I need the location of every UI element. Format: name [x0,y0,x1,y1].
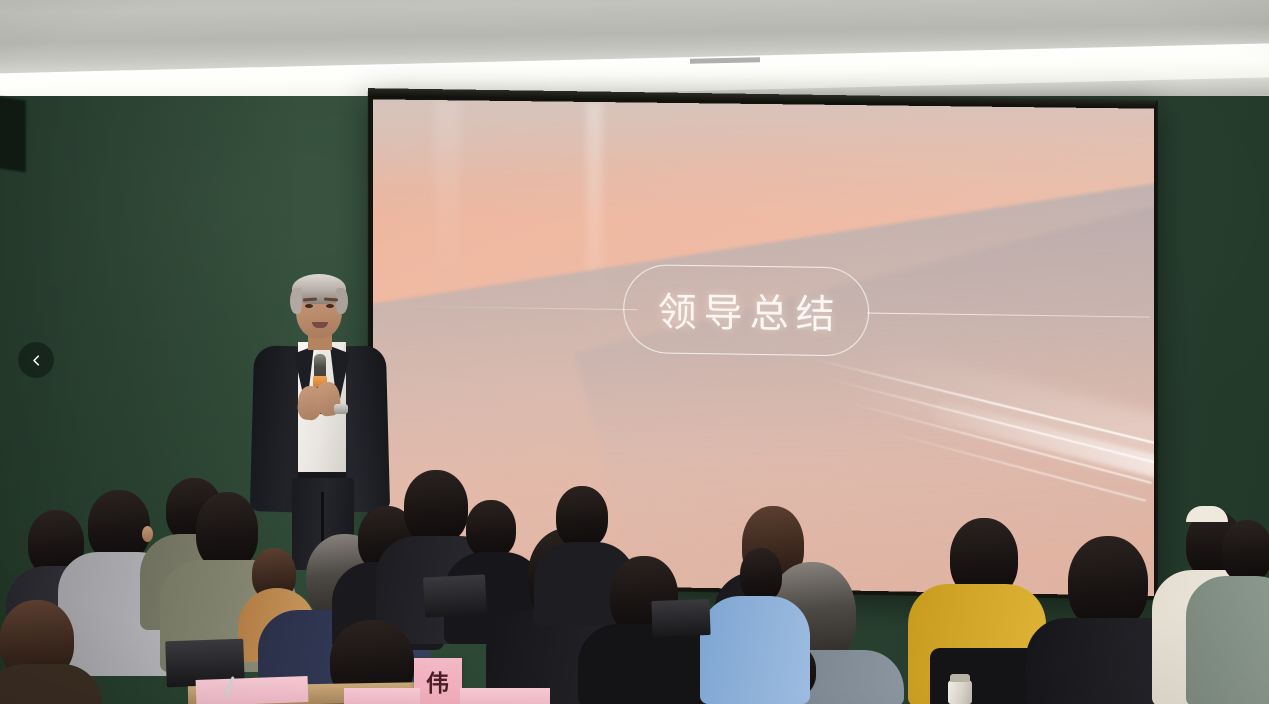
person-headband [1186,506,1228,522]
laptop [651,599,710,637]
person-body [1186,576,1269,704]
person-head [1222,520,1269,582]
person-head [466,500,516,558]
name-card-base [460,688,550,704]
audience-group [0,0,1269,704]
person-head [740,548,782,602]
chevron-left-icon [29,353,44,368]
person-head [1068,536,1148,630]
person-head [556,486,608,548]
water-bottle [948,680,972,704]
person-body [700,596,810,704]
person-ear [142,526,153,542]
person-head [404,470,468,544]
person-body [930,648,1040,704]
person-body [578,624,714,704]
laptop [423,574,487,617]
person-head [196,492,258,570]
name-card-base [344,688,420,704]
screenshot-root: 领导总结 [0,0,1269,704]
water-bottle-cap [950,674,970,682]
document-paper [196,676,309,704]
prev-button[interactable] [18,342,54,378]
name-card-text: 伟 [426,664,450,698]
name-card: 伟 [414,658,462,704]
